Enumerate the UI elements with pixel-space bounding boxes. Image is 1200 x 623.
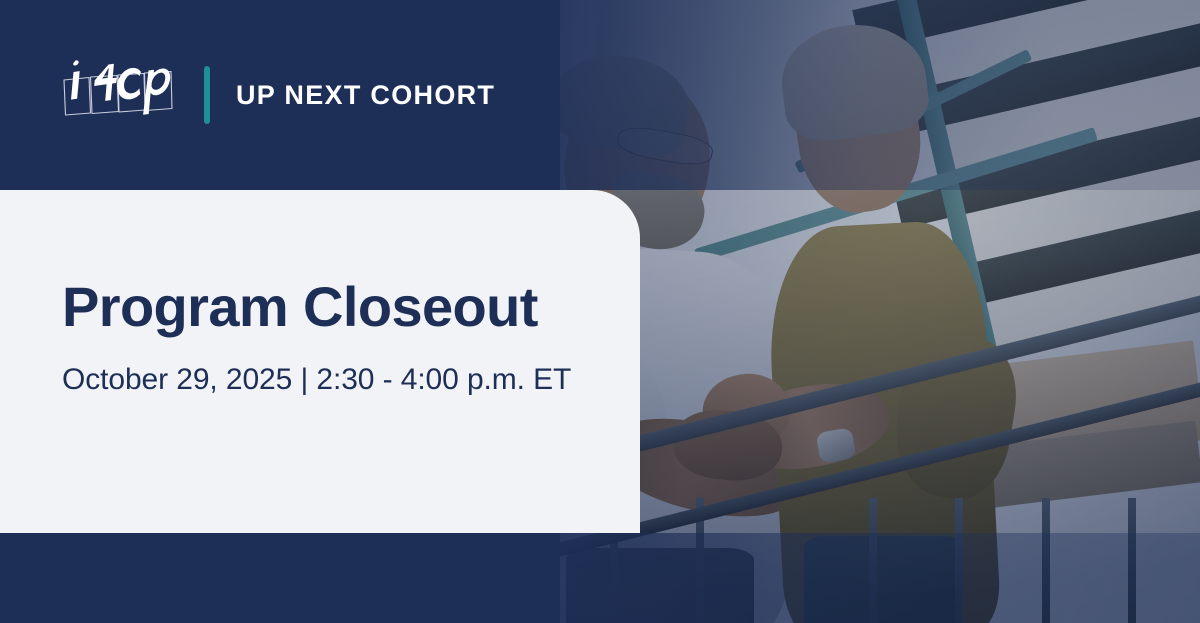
event-card: Program Closeout October 29, 2025 | 2:30… (0, 190, 640, 533)
teal-divider (204, 66, 210, 124)
event-datetime: October 29, 2025 | 2:30 - 4:00 p.m. ET (62, 363, 610, 397)
event-card-content: Program Closeout October 29, 2025 | 2:30… (62, 278, 610, 397)
kicker-label: UP NEXT COHORT (236, 82, 495, 109)
banner-header: UP NEXT COHORT (60, 58, 495, 132)
event-banner: UP NEXT COHORT Program Closeout October … (0, 0, 1200, 623)
i4cp-logo[interactable] (60, 58, 182, 132)
footer-navy-band (0, 533, 1200, 623)
page-title: Program Closeout (62, 278, 610, 337)
